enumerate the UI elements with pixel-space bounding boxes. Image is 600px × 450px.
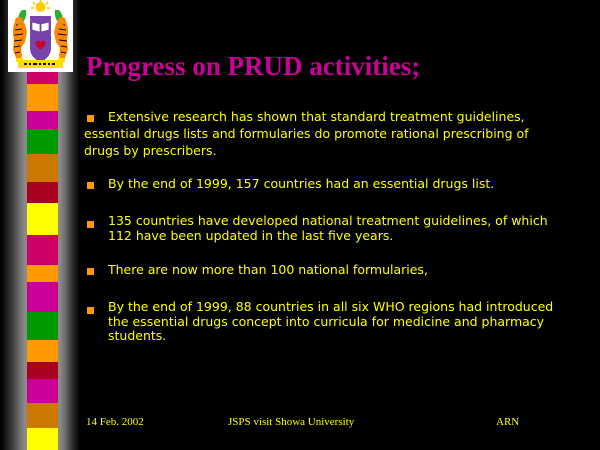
coat-of-arms-icon bbox=[8, 0, 73, 72]
bullet-line: the essential drugs concept into curricu… bbox=[84, 315, 586, 330]
square-bullet-icon bbox=[87, 307, 94, 314]
color-band bbox=[27, 312, 58, 340]
bullet-line: By the end of 1999, 157 countries had an… bbox=[84, 175, 586, 192]
bullet-line: Extensive research has shown that standa… bbox=[84, 108, 586, 125]
square-bullet-icon bbox=[87, 268, 94, 275]
slide-footer: 14 Feb. 2002 JSPS visit Showa University… bbox=[86, 414, 566, 430]
color-band bbox=[27, 428, 58, 450]
color-band bbox=[27, 154, 58, 182]
color-band bbox=[27, 265, 58, 282]
color-band bbox=[27, 340, 58, 362]
color-band bbox=[27, 403, 58, 428]
bullet-line: students. bbox=[84, 329, 586, 344]
bullet-line: drugs by prescribers. bbox=[84, 142, 586, 159]
list-item: By the end of 1999, 88 countries in all … bbox=[84, 300, 586, 344]
color-band bbox=[27, 362, 58, 379]
bullet-line: 112 have been updated in the last five y… bbox=[84, 229, 586, 244]
color-band bbox=[27, 111, 58, 129]
square-bullet-icon bbox=[87, 182, 94, 189]
bullet-line: essential drugs lists and formularies do… bbox=[84, 125, 586, 142]
color-band bbox=[27, 235, 58, 265]
square-bullet-icon bbox=[87, 221, 94, 228]
color-band bbox=[27, 84, 58, 111]
square-bullet-icon bbox=[87, 115, 94, 122]
coat-of-arms-logo bbox=[8, 0, 73, 72]
list-item: By the end of 1999, 157 countries had an… bbox=[84, 175, 586, 192]
list-item: There are now more than 100 national for… bbox=[84, 261, 586, 278]
page-title: Progress on PRUD activities; bbox=[86, 50, 586, 82]
bullet-line: There are now more than 100 national for… bbox=[84, 261, 586, 278]
bullet-line: 135 countries have developed national tr… bbox=[84, 214, 586, 229]
bullet-line: By the end of 1999, 88 countries in all … bbox=[84, 300, 586, 315]
color-band bbox=[27, 182, 58, 203]
color-band bbox=[27, 129, 58, 154]
list-item: 135 countries have developed national tr… bbox=[84, 214, 586, 243]
color-band bbox=[27, 379, 58, 403]
footer-author: ARN bbox=[496, 414, 519, 430]
footer-event: JSPS visit Showa University bbox=[228, 414, 354, 430]
color-band bbox=[27, 203, 58, 235]
bullet-list: Extensive research has shown that standa… bbox=[84, 108, 586, 344]
list-item: Extensive research has shown that standa… bbox=[84, 108, 586, 159]
color-band bbox=[27, 282, 58, 312]
footer-date: 14 Feb. 2002 bbox=[86, 414, 144, 430]
presentation-slide: Progress on PRUD activities; Extensive r… bbox=[0, 0, 600, 450]
